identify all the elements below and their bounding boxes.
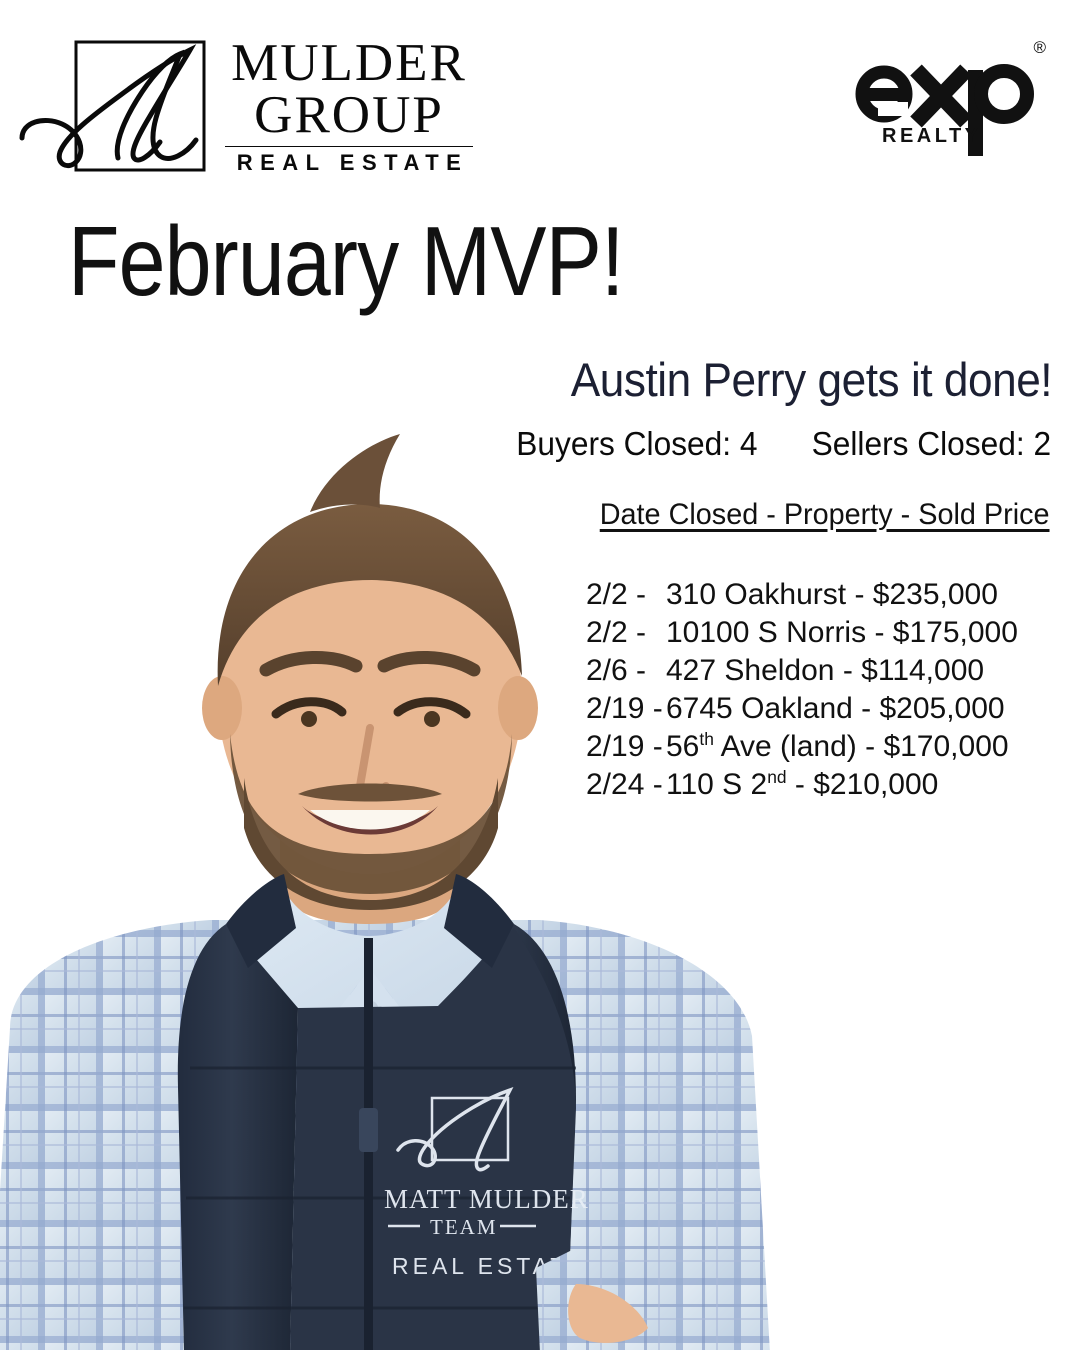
- deal-description: 310 Oakhurst - $235,000: [666, 578, 1016, 612]
- svg-text:MATT MULDER: MATT MULDER: [384, 1184, 589, 1214]
- list-item: 2/19 - 6745 Oakland - $205,000: [586, 692, 1016, 730]
- deals-list-header: Date Closed - Property - Sold Price: [600, 498, 1050, 532]
- deal-description: 10100 S Norris - $175,000: [666, 616, 1018, 650]
- deal-price: $205,000: [879, 692, 1004, 725]
- deals-list: 2/2 - 310 Oakhurst - $235,000 2/2 - 1010…: [586, 578, 1016, 806]
- deal-separator: -: [843, 654, 861, 687]
- deal-property: 56: [666, 730, 699, 763]
- deal-separator: -: [865, 730, 883, 763]
- deal-price: $170,000: [883, 730, 1008, 763]
- deal-price: $114,000: [861, 654, 984, 687]
- list-item: 2/2 - 310 Oakhurst - $235,000: [586, 578, 1016, 616]
- deal-date: 2/6 -: [586, 654, 666, 688]
- deal-date: 2/2 -: [586, 616, 666, 650]
- subtitle: Austin Perry gets it done!: [571, 352, 1052, 407]
- deal-price: $235,000: [873, 578, 998, 611]
- deal-description: 427 Sheldon - $114,000: [666, 654, 1016, 688]
- deal-description: 56th Ave (land) - $170,000: [666, 730, 1016, 764]
- mulder-group-logo: MULDER GROUP REAL ESTATE: [14, 30, 484, 190]
- registered-trademark-icon: ®: [1033, 38, 1046, 58]
- deal-date: 2/24 -: [586, 768, 666, 802]
- deal-date: 2/19 -: [586, 730, 666, 764]
- deal-description: 6745 Oakland - $205,000: [666, 692, 1016, 726]
- sellers-closed-value: 2: [1033, 425, 1051, 462]
- deal-separator: -: [854, 578, 872, 611]
- brand-line-real-estate: REAL ESTATE: [219, 150, 479, 176]
- deal-ordinal-suffix: nd: [767, 767, 786, 787]
- brand-line-mulder: MULDER: [219, 38, 479, 90]
- deal-separator: -: [874, 616, 892, 649]
- deal-separator: -: [795, 768, 813, 801]
- logo-divider: [225, 146, 473, 148]
- stats-line: Buyers Closed: 4 Sellers Closed: 2: [516, 425, 1051, 463]
- mulder-group-wordmark: MULDER GROUP REAL ESTATE: [219, 38, 479, 176]
- deal-property: 10100 S Norris: [666, 616, 866, 649]
- deal-price: $175,000: [893, 616, 1018, 649]
- brand-line-group: GROUP: [219, 90, 479, 142]
- buyers-closed-label: Buyers Closed:: [516, 425, 731, 462]
- deal-ordinal-suffix: th: [699, 729, 714, 749]
- list-item: 2/2 - 10100 S Norris - $175,000: [586, 616, 1016, 654]
- sellers-closed-label: Sellers Closed:: [812, 425, 1025, 462]
- list-item: 2/6 - 427 Sheldon - $114,000: [586, 654, 1016, 692]
- deal-property: 427 Sheldon: [666, 654, 835, 687]
- list-item: 2/24 - 110 S 2nd - $210,000: [586, 768, 1016, 806]
- deal-description: 110 S 2nd - $210,000: [666, 768, 1016, 802]
- exp-wordmark-icon: REALTY: [848, 36, 1038, 161]
- page-title: February MVP!: [68, 212, 624, 310]
- deal-date: 2/2 -: [586, 578, 666, 612]
- deal-separator: -: [861, 692, 879, 725]
- deal-property-tail: Ave (land): [714, 730, 857, 763]
- svg-text:TEAM: TEAM: [430, 1215, 498, 1239]
- script-m-monogram-icon: [14, 30, 214, 185]
- buyers-closed-value: 4: [740, 425, 758, 462]
- agent-portrait: MATT MULDER TEAM REAL ESTATE: [0, 408, 800, 1350]
- deal-property: 310 Oakhurst: [666, 578, 846, 611]
- deal-property: 110 S 2: [666, 768, 767, 801]
- list-item: 2/19 - 56th Ave (land) - $170,000: [586, 730, 1016, 768]
- poster-canvas: MULDER GROUP REAL ESTATE REALTY ®: [0, 0, 1080, 1350]
- exp-realty-logo: REALTY ®: [848, 36, 1038, 156]
- deal-price: $210,000: [813, 768, 938, 801]
- deal-property: 6745 Oakland: [666, 692, 853, 725]
- deal-date: 2/19 -: [586, 692, 666, 726]
- svg-text:REALTY: REALTY: [882, 125, 982, 147]
